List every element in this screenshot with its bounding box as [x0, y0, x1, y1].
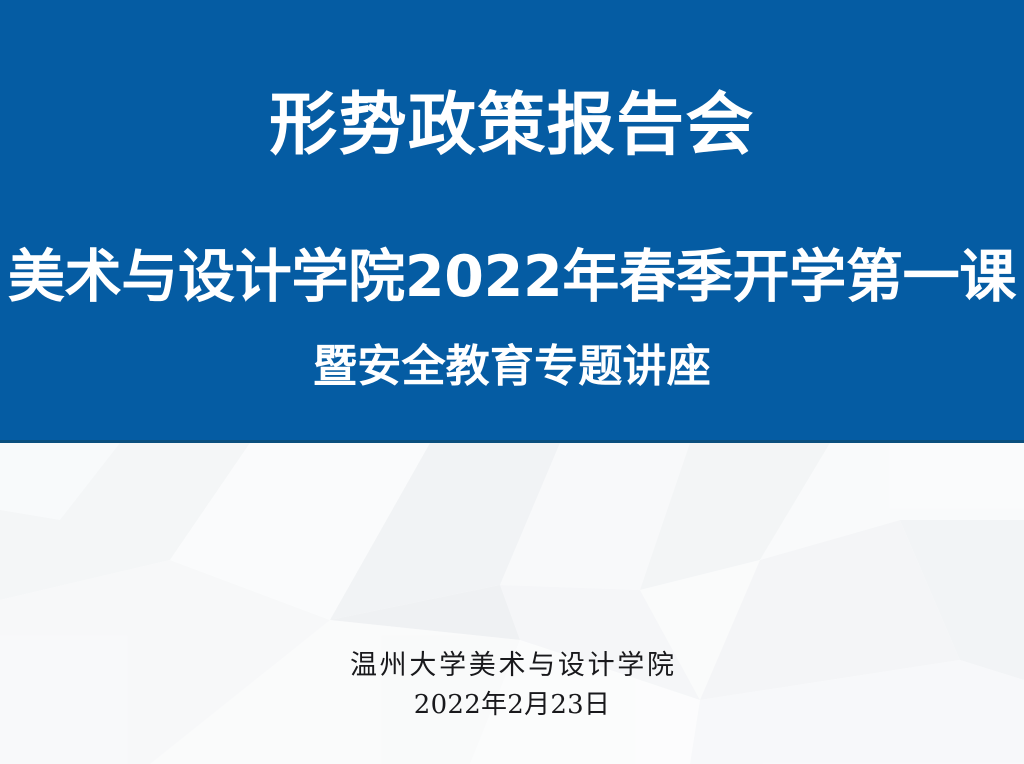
footer-organization: 温州大学美术与设计学院 — [0, 652, 1024, 679]
page-subtitle-secondary: 暨安全教育专题讲座 — [0, 345, 1024, 389]
page-subtitle: 美术与设计学院2022年春季开学第一课 — [0, 249, 1024, 306]
page-title: 形势政策报告会 — [0, 92, 1024, 160]
title-slide: 形势政策报告会 美术与设计学院2022年春季开学第一课 暨安全教育专题讲座 温州… — [0, 0, 1024, 764]
footer-date: 2022年2月23日 — [0, 692, 1024, 718]
banner-bottom-edge — [0, 440, 1024, 443]
